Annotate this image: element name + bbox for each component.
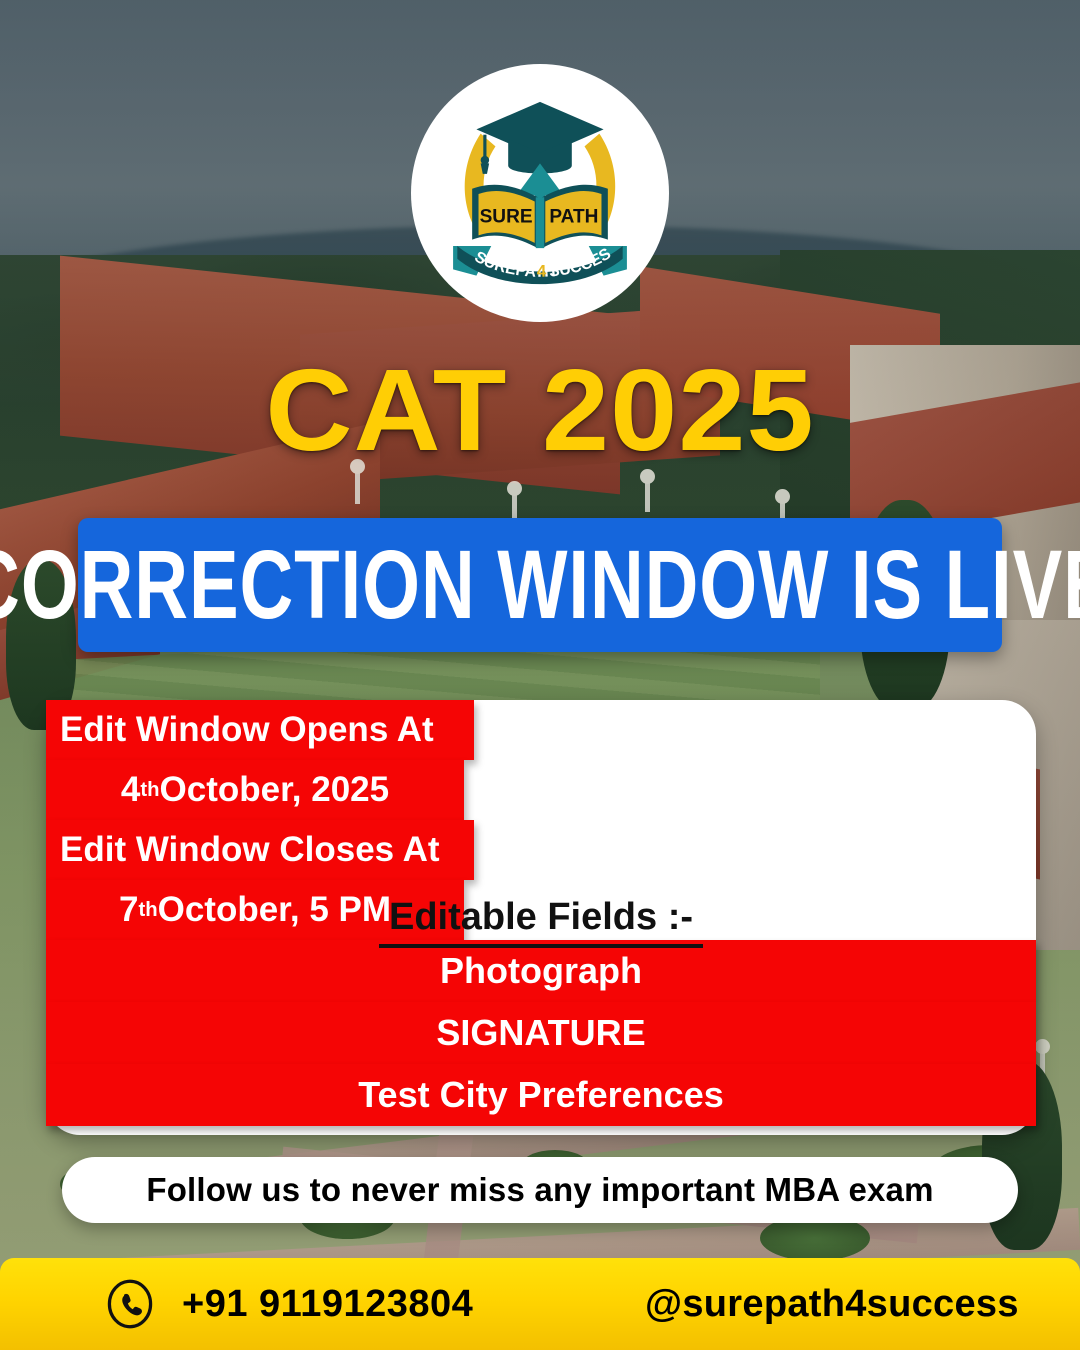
editable-fields-heading: Editable Fields :-	[46, 896, 1036, 939]
contact-footer: +91 9119123804 @surepath4success	[0, 1258, 1080, 1350]
edit-window-opens-value: 4th October, 2025	[46, 760, 464, 820]
svg-text:4: 4	[537, 262, 547, 281]
svg-text:PATH: PATH	[549, 207, 598, 228]
phone-circle-icon	[104, 1278, 156, 1330]
edit-window-opens-label: Edit Window Opens At	[46, 700, 474, 760]
correction-window-banner: CORRECTION WINDOW IS LIVE	[78, 518, 1002, 652]
surepath-logo-badge: SURE PATH SUREPATH 4 SUCCESS	[411, 64, 669, 322]
editable-field-test-city-preferences: Test City Preferences	[46, 1064, 1036, 1126]
edit-window-closes-label: Edit Window Closes At	[46, 820, 474, 880]
follow-us-text: Follow us to never miss any important MB…	[146, 1171, 933, 1209]
svg-text:SURE: SURE	[480, 207, 533, 228]
phone-number[interactable]: +91 9119123804	[182, 1283, 473, 1326]
opens-rest: October, 2025	[160, 770, 390, 810]
opens-day: 4	[121, 770, 140, 810]
poster-canvas: SURE PATH SUREPATH 4 SUCCESS CAT 2025 CO…	[0, 0, 1080, 1350]
page-title: CAT 2025	[0, 352, 1080, 468]
editable-field-signature: SIGNATURE	[46, 1002, 1036, 1064]
social-handle[interactable]: @surepath4success	[645, 1283, 1019, 1326]
info-card: Edit Window Opens At 4th October, 2025 E…	[46, 700, 1036, 1135]
banner-text: CORRECTION WINDOW IS LIVE	[0, 536, 1080, 634]
editable-fields-heading-text: Editable Fields :-	[379, 896, 703, 948]
follow-us-bar: Follow us to never miss any important MB…	[62, 1157, 1018, 1223]
editable-field-photograph: Photograph	[46, 940, 1036, 1002]
surepath-logo-icon: SURE PATH SUREPATH 4 SUCCESS	[434, 87, 646, 299]
